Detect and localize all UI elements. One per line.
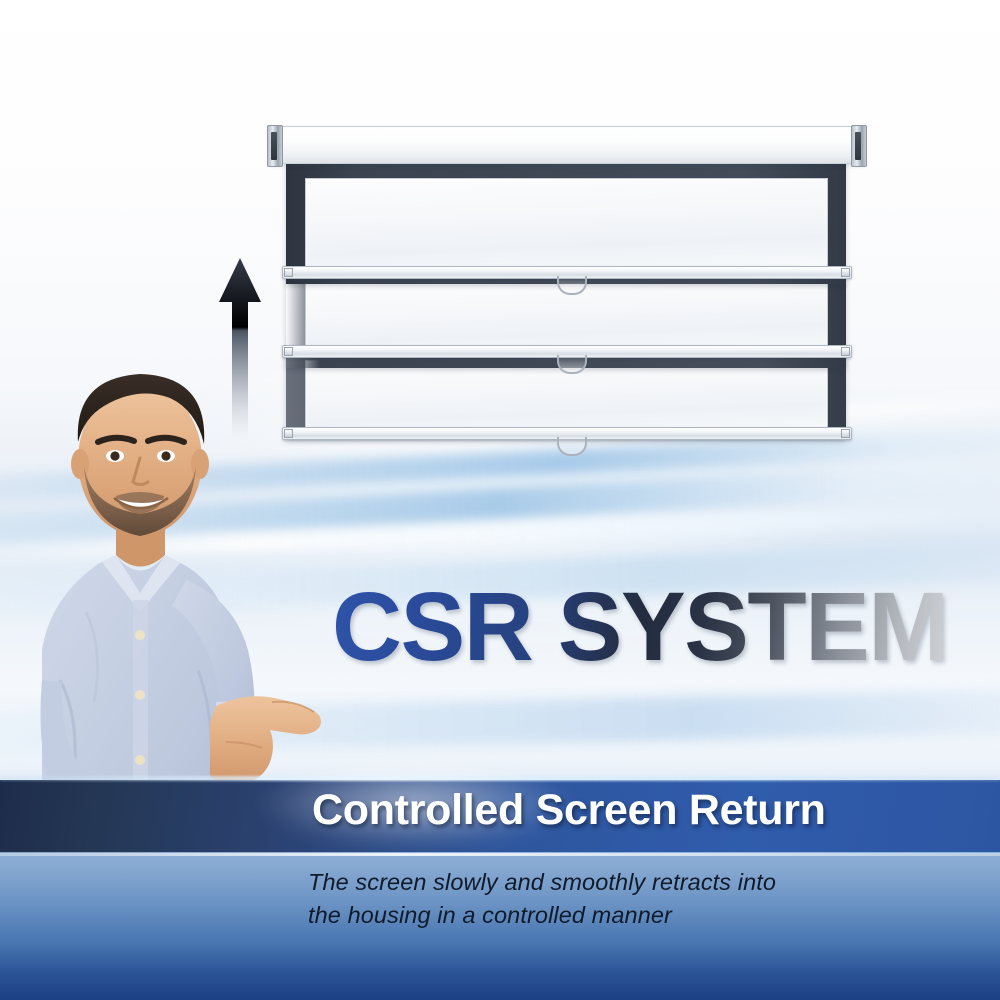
screen-surface-position-1: [305, 178, 828, 268]
page-title: CSR SYSTEM: [332, 578, 948, 675]
housing-bracket-right: [851, 125, 867, 167]
pull-hook-icon: [557, 437, 587, 456]
bar-end-cap-left: [284, 268, 293, 277]
description-line-2: the housing in a controlled manner: [308, 899, 868, 932]
bar-end-cap-right: [841, 347, 850, 356]
poster-canvas: CSR SYSTEM Controlled Screen Return The …: [0, 0, 1000, 1000]
screen-housing-case: [270, 126, 864, 164]
description-text: The screen slowly and smoothly retracts …: [308, 866, 868, 933]
description-line-1: The screen slowly and smoothly retracts …: [308, 866, 868, 899]
bar-end-cap-right: [841, 268, 850, 277]
banner-heading: Controlled Screen Return: [312, 786, 826, 835]
bar-end-cap-right: [841, 429, 850, 438]
housing-bracket-left: [267, 125, 283, 167]
